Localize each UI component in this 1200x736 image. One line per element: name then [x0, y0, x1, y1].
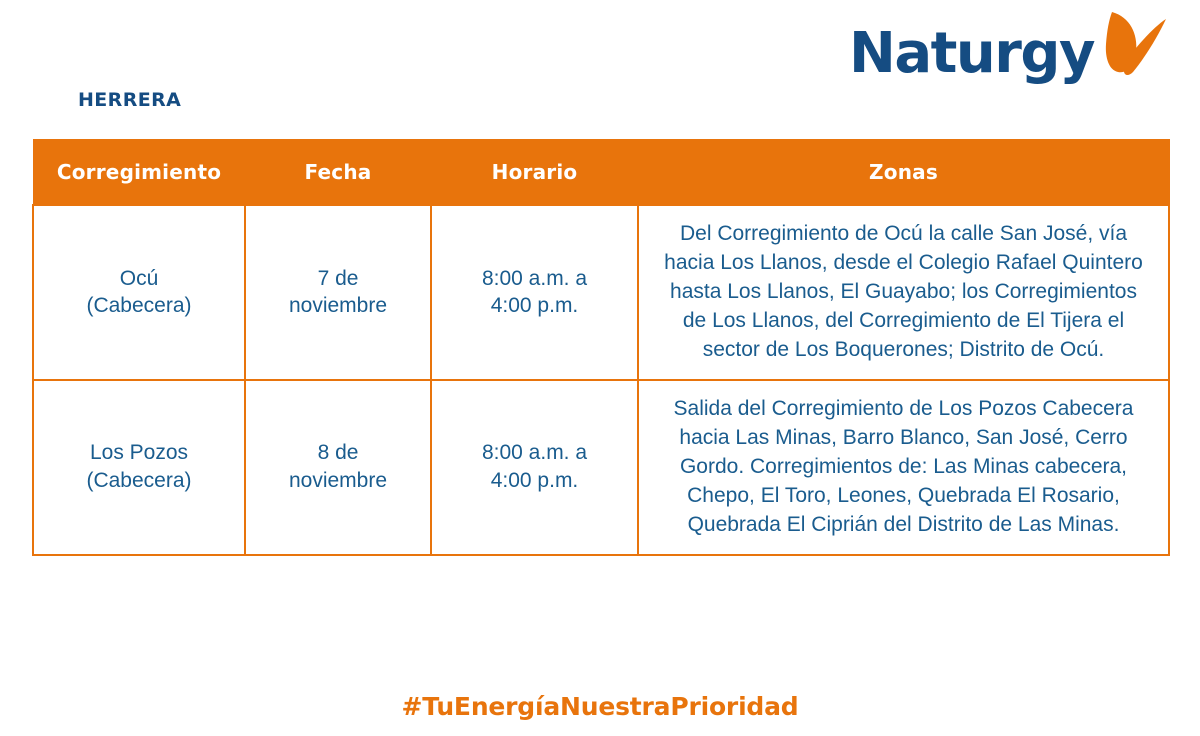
cell-corregimiento: Ocú(Cabecera): [33, 205, 245, 380]
naturgy-flame-icon: [1100, 8, 1172, 86]
brand-logo: Naturgy: [849, 22, 1172, 86]
column-header-corregimiento: Corregimiento: [33, 140, 245, 206]
cell-horario: 8:00 a.m. a4:00 p.m.: [431, 380, 638, 555]
brand-wordmark: Naturgy: [849, 26, 1094, 82]
column-header-fecha: Fecha: [245, 140, 431, 206]
cell-corregimiento: Los Pozos(Cabecera): [33, 380, 245, 555]
outage-schedule-table: Corregimiento Fecha Horario Zonas Ocú(Ca…: [32, 139, 1170, 556]
province-title: HERRERA: [78, 89, 181, 111]
cell-fecha: 8 denoviembre: [245, 380, 431, 555]
column-header-horario: Horario: [431, 140, 638, 206]
cell-zonas: Del Corregimiento de Ocú la calle San Jo…: [638, 205, 1169, 380]
cell-horario: 8:00 a.m. a4:00 p.m.: [431, 205, 638, 380]
table-row: Los Pozos(Cabecera) 8 denoviembre 8:00 a…: [33, 380, 1169, 555]
cell-zonas: Salida del Corregimiento de Los Pozos Ca…: [638, 380, 1169, 555]
campaign-hashtag: #TuEnergíaNuestraPrioridad: [0, 692, 1200, 721]
cell-fecha: 7 denoviembre: [245, 205, 431, 380]
table-header-row: Corregimiento Fecha Horario Zonas: [33, 140, 1169, 206]
column-header-zonas: Zonas: [638, 140, 1169, 206]
table-row: Ocú(Cabecera) 7 denoviembre 8:00 a.m. a4…: [33, 205, 1169, 380]
